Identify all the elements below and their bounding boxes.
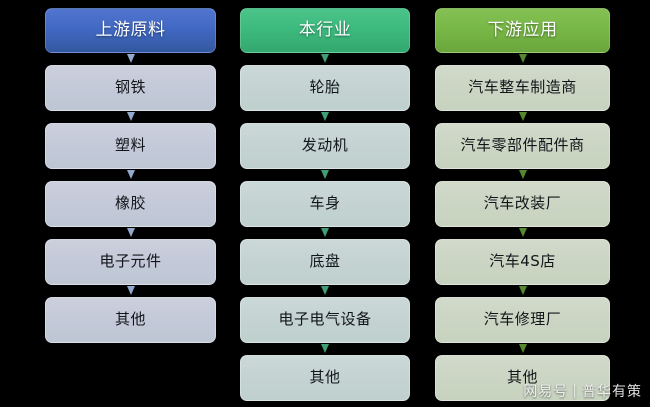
connector-upstream-3 [45,227,216,239]
chain-column-downstream: 下游应用 汽车整车制造商 汽车零部件配件商 汽车改装厂 汽车4S店 汽车修理厂 … [435,8,610,401]
node-upstream-2[interactable]: 橡胶 [45,181,216,227]
node-industry-4[interactable]: 电子电气设备 [240,297,410,343]
arrow-down-icon [321,170,329,179]
arrow-down-icon [321,54,329,63]
node-downstream-4[interactable]: 汽车修理厂 [435,297,610,343]
connector-downstream-0 [435,53,610,65]
column-header-upstream[interactable]: 上游原料 [45,8,216,53]
node-upstream-3[interactable]: 电子元件 [45,239,216,285]
chain-column-industry: 本行业 轮胎 发动机 车身 底盘 电子电气设备 其他 [240,8,410,401]
arrow-down-icon [519,228,527,237]
connector-industry-3 [240,227,410,239]
node-downstream-2[interactable]: 汽车改装厂 [435,181,610,227]
connector-upstream-1 [45,111,216,123]
node-downstream-1[interactable]: 汽车零部件配件商 [435,123,610,169]
connector-industry-4 [240,285,410,297]
node-upstream-1[interactable]: 塑料 [45,123,216,169]
arrow-down-icon [321,112,329,121]
connector-industry-0 [240,53,410,65]
connector-industry-5 [240,343,410,355]
node-industry-0[interactable]: 轮胎 [240,65,410,111]
arrow-down-icon [321,344,329,353]
node-upstream-4[interactable]: 其他 [45,297,216,343]
node-industry-3[interactable]: 底盘 [240,239,410,285]
arrow-down-icon [127,170,135,179]
connector-industry-1 [240,111,410,123]
arrow-down-icon [127,112,135,121]
node-industry-1[interactable]: 发动机 [240,123,410,169]
node-industry-5[interactable]: 其他 [240,355,410,401]
chain-column-upstream: 上游原料 钢铁 塑料 橡胶 电子元件 其他 [45,8,216,343]
node-industry-2[interactable]: 车身 [240,181,410,227]
node-downstream-0[interactable]: 汽车整车制造商 [435,65,610,111]
arrow-down-icon [519,286,527,295]
arrow-down-icon [321,286,329,295]
arrow-down-icon [127,286,135,295]
connector-downstream-5 [435,343,610,355]
connector-upstream-4 [45,285,216,297]
node-upstream-0[interactable]: 钢铁 [45,65,216,111]
column-header-downstream[interactable]: 下游应用 [435,8,610,53]
connector-industry-2 [240,169,410,181]
column-header-industry[interactable]: 本行业 [240,8,410,53]
arrow-down-icon [519,54,527,63]
arrow-down-icon [127,54,135,63]
node-downstream-3[interactable]: 汽车4S店 [435,239,610,285]
arrow-down-icon [519,112,527,121]
arrow-down-icon [127,228,135,237]
industry-chain-diagram: 上游原料 钢铁 塑料 橡胶 电子元件 其他 本行业 轮胎 发动机 [0,0,650,407]
connector-downstream-1 [435,111,610,123]
connector-downstream-2 [435,169,610,181]
connector-upstream-2 [45,169,216,181]
node-downstream-5[interactable]: 其他 [435,355,610,401]
connector-downstream-3 [435,227,610,239]
connector-upstream-0 [45,53,216,65]
arrow-down-icon [519,170,527,179]
connector-downstream-4 [435,285,610,297]
arrow-down-icon [519,344,527,353]
arrow-down-icon [321,228,329,237]
